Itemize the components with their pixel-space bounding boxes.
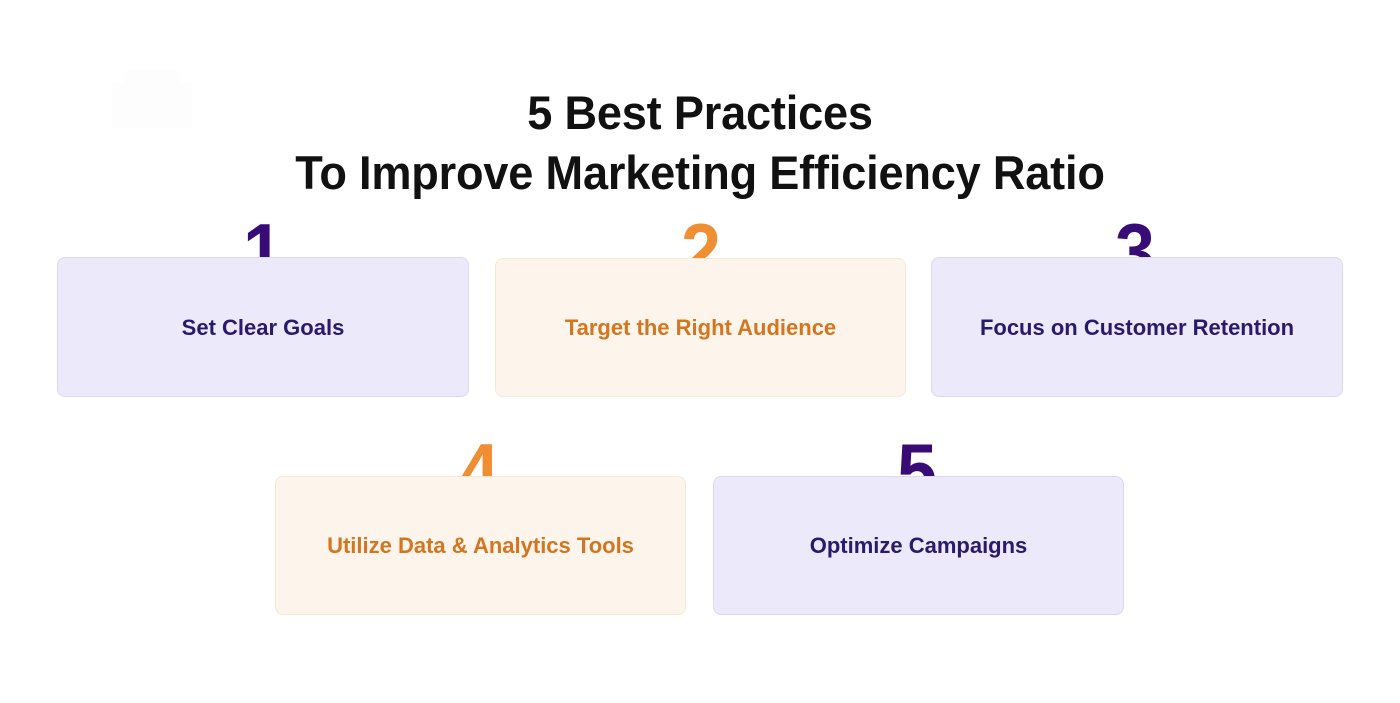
practice-card-4[interactable]: Utilize Data & Analytics Tools bbox=[275, 476, 686, 615]
practice-card-2-label: Target the Right Audience bbox=[565, 312, 836, 343]
practice-card-5[interactable]: Optimize Campaigns bbox=[713, 476, 1124, 615]
practice-card-3-label: Focus on Customer Retention bbox=[980, 312, 1294, 343]
practice-card-3[interactable]: Focus on Customer Retention bbox=[931, 257, 1343, 397]
infographic-canvas: 5 Best Practices To Improve Marketing Ef… bbox=[0, 0, 1400, 703]
page-title-line-1: 5 Best Practices bbox=[28, 83, 1372, 143]
page-title: 5 Best Practices To Improve Marketing Ef… bbox=[28, 83, 1372, 203]
practice-card-1[interactable]: Set Clear Goals bbox=[57, 257, 469, 397]
page-title-line-2: To Improve Marketing Efficiency Ratio bbox=[28, 143, 1372, 203]
practice-card-4-label: Utilize Data & Analytics Tools bbox=[327, 530, 634, 561]
practice-card-5-label: Optimize Campaigns bbox=[810, 530, 1028, 561]
practice-card-1-label: Set Clear Goals bbox=[182, 312, 345, 343]
practice-card-2[interactable]: Target the Right Audience bbox=[495, 258, 906, 397]
